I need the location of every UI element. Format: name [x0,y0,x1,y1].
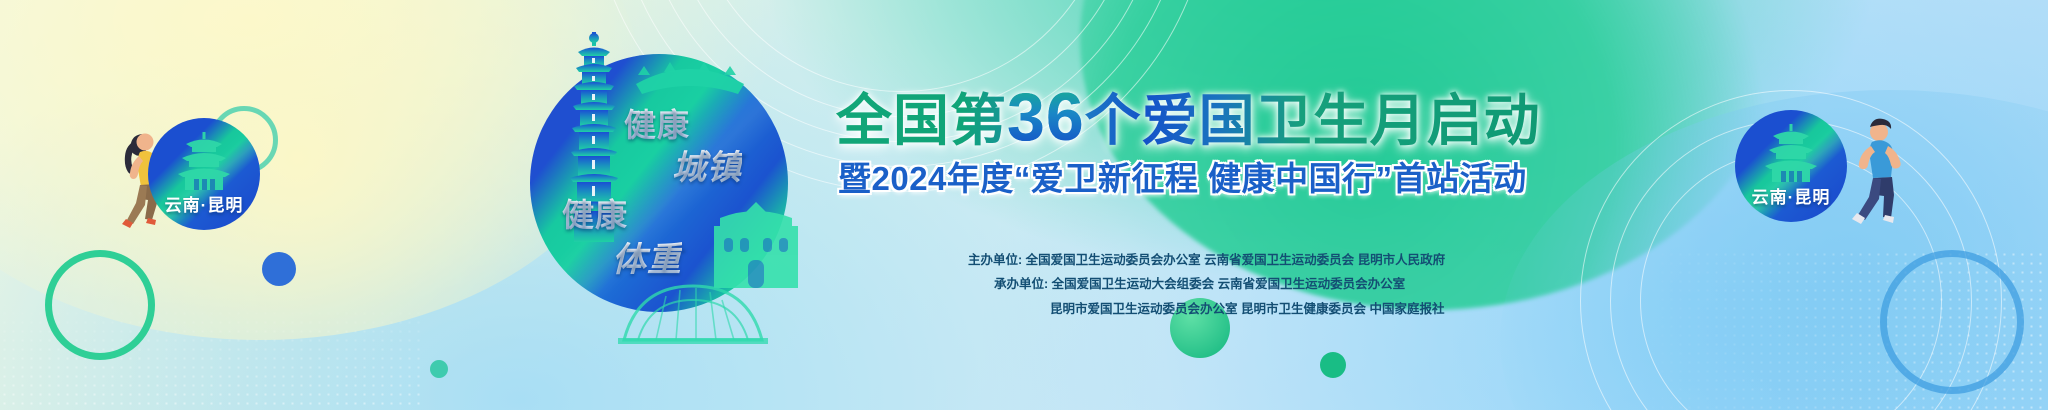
decorative-dot-blue [262,252,296,286]
campaign-emblem: 健康 城镇 健康 体重 [520,32,800,312]
decorative-dot-teal [430,360,448,378]
credit-line-host: 主办单位: 全国爱国卫生运动委员会办公室 云南省爱国卫生运动委员会 昆明市人民政… [968,248,1488,272]
headline-suffix: 个爱国卫生月启动 [1085,89,1541,152]
location-badge-right[interactable]: 云南·昆明 [1735,110,1847,222]
page-subtitle: 暨2024年度“爱卫新征程 健康中国行”首站活动 [838,152,1527,200]
badge-label-left: 云南·昆明 [148,191,260,216]
male-runner-icon [1845,112,1917,228]
page-title: 全国第36个爱国卫生月启动 [836,76,1541,157]
badge-label-right: 云南·昆明 [1735,183,1847,208]
pagoda-icon [1761,124,1821,182]
credit-line-organizer: 承办单位: 全国爱国卫生运动大会组委会 云南省爱国卫生运动委员会办公室 [968,272,1488,296]
decorative-ring-blue [1880,250,2024,394]
emblem-text-line-3: 健康 [562,190,628,236]
credit-line-organizer-cont: 昆明市爱国卫生运动委员会办公室 昆明市卫生健康委员会 中国家庭报社 [968,297,1488,321]
decorative-ring-green [45,250,155,360]
emblem-text-line-2: 城镇 [672,140,742,189]
location-badge-left[interactable]: 云南·昆明 [148,118,260,230]
organizer-credits: 主办单位: 全国爱国卫生运动委员会办公室 云南省爱国卫生运动委员会 昆明市人民政… [968,248,1488,321]
campaign-banner: 云南·昆明 [0,0,2048,410]
decorative-dot-green-small [1320,352,1346,378]
pagoda-icon [174,132,234,190]
emblem-text-line-4: 体重 [612,232,682,281]
halftone-dots-left [0,300,420,410]
halftone-dots-right [1640,250,2048,410]
headline-prefix: 全国第 [836,89,1007,152]
headline-number: 36 [1007,79,1085,155]
